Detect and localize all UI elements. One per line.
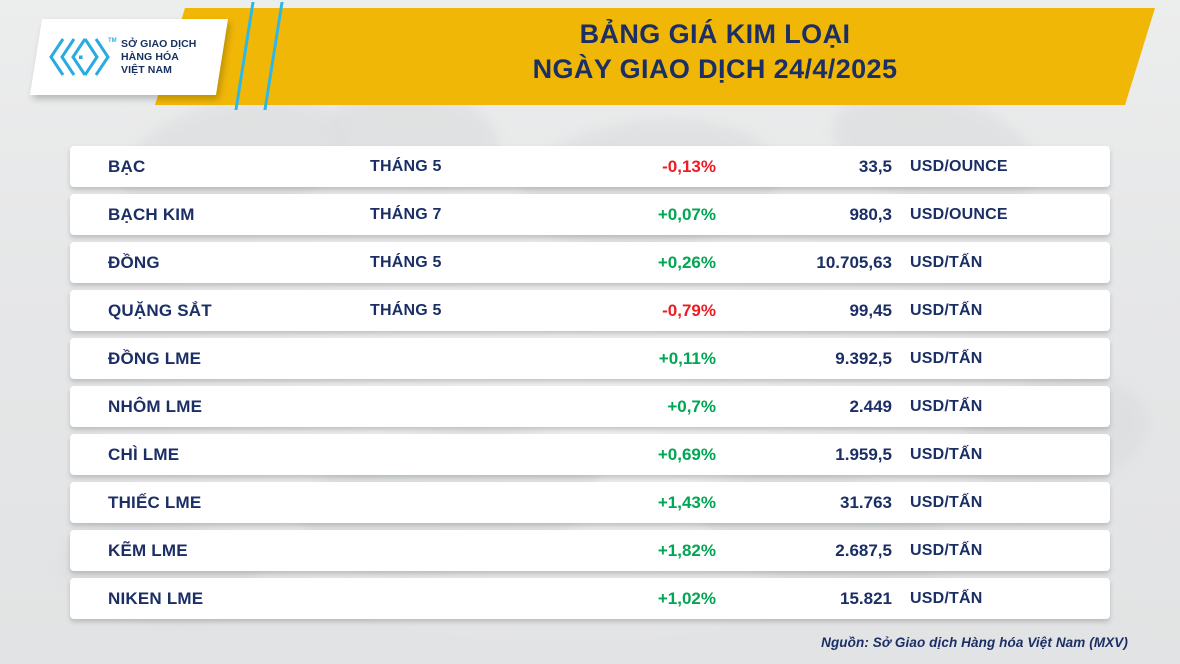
percent-change: +1,02%: [550, 589, 730, 609]
logo-wordmark: SỞ GIAO DỊCH HÀNG HÓA VIỆT NAM: [121, 38, 197, 77]
price-value: 15.821: [730, 589, 910, 609]
price-unit: USD/TẤN: [910, 542, 1110, 560]
header-banner: TM SỞ GIAO DỊCH HÀNG HÓA VIỆT NAM BẢNG G…: [0, 0, 1180, 112]
table-row[interactable]: THIẾC LME+1,43%31.763USD/TẤN: [70, 482, 1110, 523]
price-unit: USD/OUNCE: [910, 206, 1110, 224]
metal-price-board: TM SỞ GIAO DỊCH HÀNG HÓA VIỆT NAM BẢNG G…: [0, 0, 1180, 664]
page-title: BẢNG GIÁ KIM LOẠI NGÀY GIAO DỊCH 24/4/20…: [300, 16, 1130, 86]
percent-change: +0,69%: [550, 445, 730, 465]
percent-change: +0,7%: [550, 397, 730, 417]
table-row[interactable]: KẼM LME+1,82%2.687,5USD/TẤN: [70, 530, 1110, 571]
logo-card: TM SỞ GIAO DỊCH HÀNG HÓA VIỆT NAM: [30, 19, 228, 95]
mxv-chevron-logo-icon: [48, 36, 114, 78]
commodity-name: ĐỒNG: [70, 253, 370, 273]
table-row[interactable]: CHÌ LME+0,69%1.959,5USD/TẤN: [70, 434, 1110, 475]
logo-line-2: HÀNG HÓA: [121, 51, 197, 64]
percent-change: -0,79%: [550, 301, 730, 321]
commodity-name: KẼM LME: [70, 541, 370, 561]
price-value: 1.959,5: [730, 445, 910, 465]
price-value: 2.449: [730, 397, 910, 417]
table-row[interactable]: QUẶNG SẮTTHÁNG 5-0,79%99,45USD/TẤN: [70, 290, 1110, 331]
percent-change: +0,07%: [550, 205, 730, 225]
table-row[interactable]: NHÔM LME+0,7%2.449USD/TẤN: [70, 386, 1110, 427]
commodity-name: BẠCH KIM: [70, 205, 370, 225]
contract-month: THÁNG 5: [370, 302, 550, 320]
table-row[interactable]: ĐỒNGTHÁNG 5+0,26%10.705,63USD/TẤN: [70, 242, 1110, 283]
contract-month: THÁNG 7: [370, 206, 550, 224]
price-table: BẠCTHÁNG 5-0,13%33,5USD/OUNCEBẠCH KIMTHÁ…: [0, 146, 1180, 626]
contract-month: THÁNG 5: [370, 254, 550, 272]
price-value: 10.705,63: [730, 253, 910, 273]
price-unit: USD/TẤN: [910, 254, 1110, 272]
price-unit: USD/TẤN: [910, 494, 1110, 512]
table-row[interactable]: ĐỒNG LME+0,11%9.392,5USD/TẤN: [70, 338, 1110, 379]
table-row[interactable]: NIKEN LME+1,02%15.821USD/TẤN: [70, 578, 1110, 619]
price-value: 99,45: [730, 301, 910, 321]
commodity-name: CHÌ LME: [70, 445, 370, 465]
trademark-icon: TM: [108, 38, 117, 44]
commodity-name: ĐỒNG LME: [70, 349, 370, 369]
price-value: 2.687,5: [730, 541, 910, 561]
logo-line-1: SỞ GIAO DỊCH: [121, 38, 197, 51]
source-note: Nguồn: Sở Giao dịch Hàng hóa Việt Nam (M…: [821, 635, 1128, 650]
logo-line-3: VIỆT NAM: [121, 64, 197, 77]
percent-change: +0,26%: [550, 253, 730, 273]
contract-month: THÁNG 5: [370, 158, 550, 176]
price-unit: USD/TẤN: [910, 302, 1110, 320]
price-unit: USD/OUNCE: [910, 158, 1110, 176]
price-value: 31.763: [730, 493, 910, 513]
commodity-name: QUẶNG SẮT: [70, 301, 370, 321]
title-line-2: NGÀY GIAO DỊCH 24/4/2025: [300, 52, 1130, 86]
title-line-1: BẢNG GIÁ KIM LOẠI: [300, 16, 1130, 52]
percent-change: -0,13%: [550, 157, 730, 177]
table-row[interactable]: BẠCTHÁNG 5-0,13%33,5USD/OUNCE: [70, 146, 1110, 187]
percent-change: +0,11%: [550, 349, 730, 369]
price-unit: USD/TẤN: [910, 350, 1110, 368]
commodity-name: THIẾC LME: [70, 493, 370, 513]
price-value: 980,3: [730, 205, 910, 225]
percent-change: +1,82%: [550, 541, 730, 561]
price-unit: USD/TẤN: [910, 446, 1110, 464]
price-value: 9.392,5: [730, 349, 910, 369]
commodity-name: NHÔM LME: [70, 397, 370, 417]
table-row[interactable]: BẠCH KIMTHÁNG 7+0,07%980,3USD/OUNCE: [70, 194, 1110, 235]
price-unit: USD/TẤN: [910, 398, 1110, 416]
commodity-name: NIKEN LME: [70, 589, 370, 609]
percent-change: +1,43%: [550, 493, 730, 513]
price-value: 33,5: [730, 157, 910, 177]
price-unit: USD/TẤN: [910, 590, 1110, 608]
commodity-name: BẠC: [70, 157, 370, 177]
